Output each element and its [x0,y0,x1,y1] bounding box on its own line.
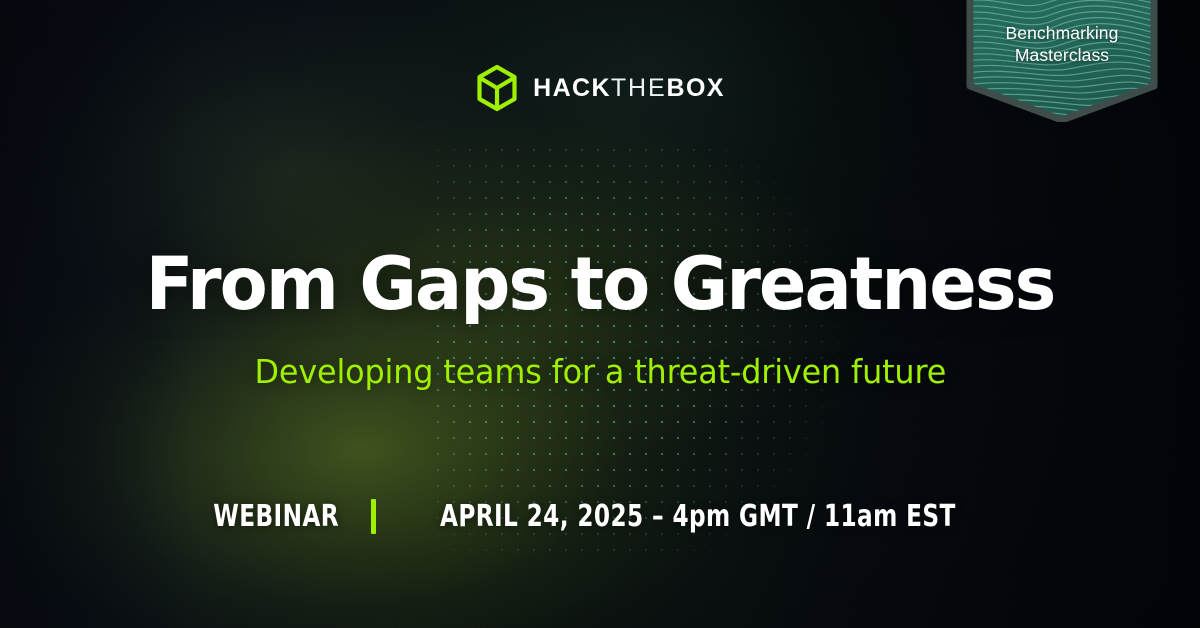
page-title: From Gaps to Greatness [24,247,1176,322]
dot-matrix-pattern [428,140,898,560]
meta-divider-bar [371,499,376,534]
logo-word-box: BOX [667,74,725,102]
badge-benchmarking-masterclass: Benchmarking Masterclass [966,0,1158,122]
event-schedule-label: APRIL 24, 2025 – 4pm GMT / 11am EST [440,502,956,532]
hero-title-container: From Gaps to Greatness [0,247,1200,322]
logo-word-hack: HACK [533,74,611,102]
logo-word-the: THE [611,74,667,102]
page-subtitle: Developing teams for a threat-driven fut… [254,352,946,392]
event-type-label: WEBINAR [213,502,339,532]
hexagon-cube-icon [475,64,519,112]
event-meta-row: WEBINAR APRIL 24, 2025 – 4pm GMT / 11am … [0,499,1200,534]
hero-subtitle-container: Developing teams for a threat-driven fut… [0,352,1200,392]
badge-shield-shape [966,0,1158,122]
webinar-promo-banner: HACKTHEBOX [0,0,1200,628]
logo-wordmark: HACKTHEBOX [533,76,725,101]
